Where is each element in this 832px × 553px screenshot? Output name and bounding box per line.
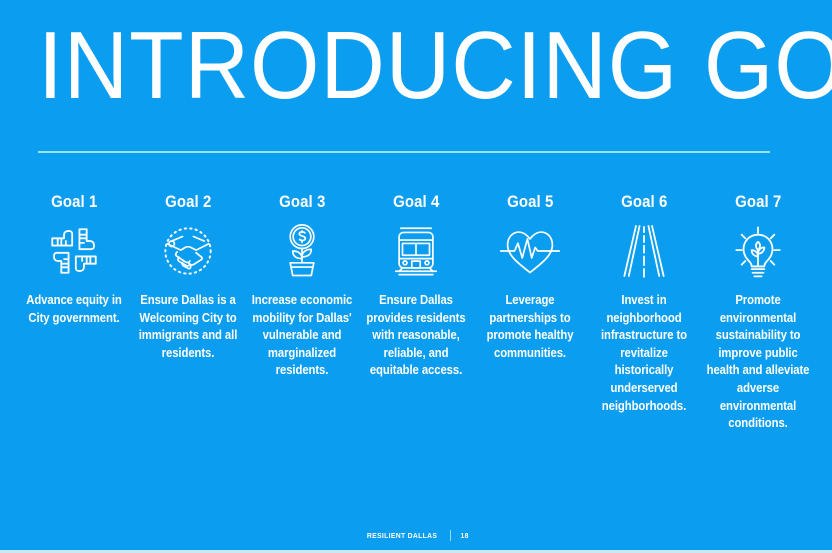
goals-row: Goal 1 Advance equity in City [20, 192, 812, 433]
slide-introducing-goals: INTRODUCING GOALS Goal 1 [0, 0, 832, 553]
footer-label: RESILIENT DALLAS [367, 531, 437, 540]
goal-column-7: Goal 7 Promote environmental sustainabil… [704, 192, 812, 433]
goal-heading: Goal 7 [735, 192, 781, 212]
footer-separator [450, 530, 451, 541]
goal-heading: Goal 1 [51, 192, 97, 212]
goal-description: Advance equity in City government. [22, 292, 126, 327]
goal-heading: Goal 4 [393, 192, 439, 212]
goal-description: Leverage partnerships to promote healthy… [478, 292, 582, 362]
goal-description: Ensure Dallas is a Welcoming City to imm… [136, 292, 240, 362]
goal-description: Invest in neighborhood infrastructure to… [592, 292, 696, 415]
goal-description: Promote environmental sustainability to … [706, 292, 810, 433]
goal-column-1: Goal 1 Advance equity in City [20, 192, 128, 327]
goal-heading: Goal 6 [621, 192, 667, 212]
title-divider [38, 151, 770, 153]
goal-column-2: Goal 2 Ensure Dallas is a Welcoming City… [134, 192, 242, 362]
lightbulb-plant-icon [723, 220, 793, 282]
footer: RESILIENT DALLAS 18 [0, 530, 832, 541]
train-icon [381, 220, 451, 282]
page-title: INTRODUCING GOALS [38, 12, 745, 120]
page-number: 18 [460, 531, 468, 540]
goal-description: Increase economic mobility for Dallas' v… [250, 292, 354, 380]
road-icon [609, 220, 679, 282]
goal-column-3: Goal 3 Increase economic mobility for Da… [248, 192, 356, 380]
goal-column-4: Goal 4 Ensure Dallas provides [362, 192, 470, 380]
interlocking-hands-icon [39, 220, 109, 282]
heart-pulse-icon [495, 220, 565, 282]
goal-heading: Goal 5 [507, 192, 553, 212]
handshake-icon [153, 220, 223, 282]
goal-heading: Goal 2 [165, 192, 211, 212]
goal-column-5: Goal 5 Leverage partnerships to promote … [476, 192, 584, 362]
goal-description: Ensure Dallas provides residents with re… [364, 292, 468, 380]
money-plant-icon [267, 220, 337, 282]
goal-column-6: Goal 6 Invest in neighborhood infrastruc… [590, 192, 698, 415]
goal-heading: Goal 3 [279, 192, 325, 212]
